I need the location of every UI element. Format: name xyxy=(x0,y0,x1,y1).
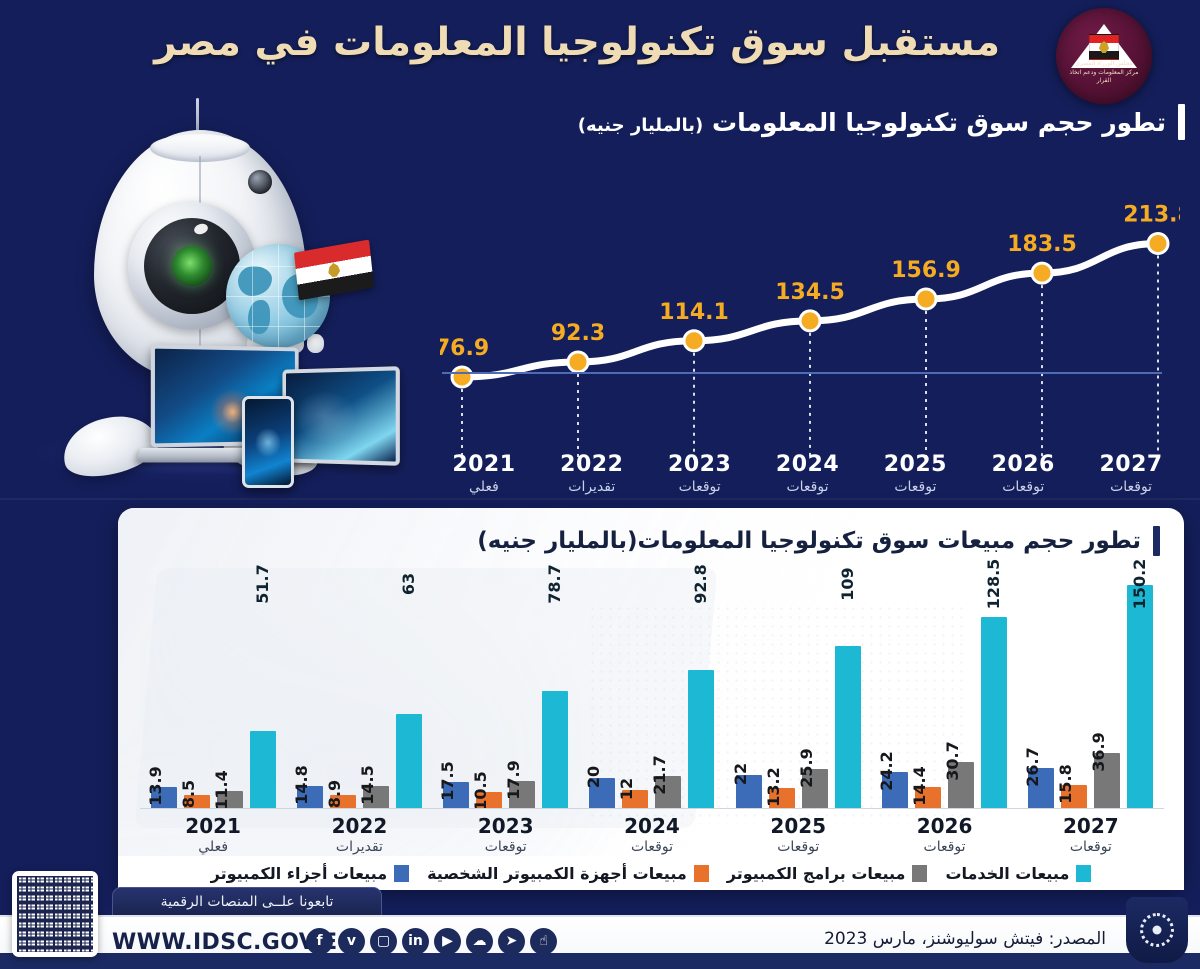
legend-item[interactable]: مبيعات أجزاء الكمبيوتر xyxy=(211,864,409,883)
bar-value-label: 12 xyxy=(619,778,635,800)
bar-value-label: 25.9 xyxy=(799,749,815,788)
logo-caption: مجلس الوزراء المصري مركز المعلومات ودعم … xyxy=(1056,60,1152,86)
robot-lens-pupil xyxy=(172,246,212,286)
bar-x-label-year: 2021 xyxy=(140,814,286,838)
gear-icon xyxy=(1140,913,1174,947)
bar-column[interactable]: 8.9 xyxy=(330,570,356,808)
chart-legend: مبيعات الخدماتمبيعات برامج الكمبيوترمبيع… xyxy=(118,856,1184,890)
line-data-point[interactable] xyxy=(452,367,472,387)
bar-chart-bars: 13.98.511.451.714.88.914.56317.510.517.9… xyxy=(140,570,1164,808)
social-media-links: fᴠ▢in▶☁➤☝ xyxy=(306,926,557,956)
bar-x-label-note: توقعات xyxy=(725,839,871,855)
soundcloud-icon[interactable]: ☁ xyxy=(466,928,493,955)
bar-rect[interactable]: 128.5 xyxy=(981,617,1007,808)
bar-rect[interactable]: 78.7 xyxy=(542,691,568,808)
line-x-label-year: 2026 xyxy=(969,452,1077,477)
line-data-label: 134.5 xyxy=(775,280,845,305)
bar-x-label-year: 2027 xyxy=(1018,814,1164,838)
bar-value-label: 14.8 xyxy=(294,765,310,804)
bar-rect[interactable]: 63 xyxy=(396,714,422,808)
line-x-label-note: توقعات xyxy=(861,479,969,495)
bar-x-label: 2025توقعات xyxy=(725,814,871,862)
bar-x-label-note: تقديرات xyxy=(286,839,432,855)
bar-group: 26.715.836.9150.2 xyxy=(1018,570,1164,808)
line-data-point[interactable] xyxy=(1032,263,1052,283)
qr-code-pattern xyxy=(17,876,93,952)
logo-circle: مجلس الوزراء المصري مركز المعلومات ودعم … xyxy=(1056,8,1152,104)
bar-chart-title-text: تطور حجم مبيعات سوق تكنولوجيا المعلومات xyxy=(638,528,1141,554)
line-x-label-note: توقعات xyxy=(1077,479,1185,495)
bar-x-label: 2026توقعات xyxy=(871,814,1017,862)
bar-group: 24.214.430.7128.5 xyxy=(871,570,1017,808)
bar-column[interactable]: 13.2 xyxy=(769,570,795,808)
bar-group: 14.88.914.563 xyxy=(286,570,432,808)
bar-value-label: 15.8 xyxy=(1058,764,1074,803)
bar-value-label: 78.7 xyxy=(547,564,563,603)
legend-swatch xyxy=(1076,865,1091,882)
line-x-label-note: توقعات xyxy=(969,479,1077,495)
bar-group: 201221.792.8 xyxy=(579,570,725,808)
bar-rect[interactable]: 51.7 xyxy=(250,731,276,808)
bar-x-label-note: توقعات xyxy=(871,839,1017,855)
bar-value-label: 17.5 xyxy=(440,761,456,800)
bar-x-label-year: 2025 xyxy=(725,814,871,838)
line-data-label: 114.1 xyxy=(659,300,729,325)
bar-column[interactable]: 12 xyxy=(622,570,648,808)
bar-column[interactable]: 13.9 xyxy=(151,570,177,808)
bar-x-label-year: 2024 xyxy=(579,814,725,838)
bar-column[interactable]: 14.8 xyxy=(297,570,323,808)
line-x-label: 2024توقعات xyxy=(754,452,862,504)
bar-x-label: 2027توقعات xyxy=(1018,814,1164,862)
bar-column[interactable]: 21.7 xyxy=(655,570,681,808)
bar-value-label: 11.4 xyxy=(214,770,230,809)
footer-emblem xyxy=(1126,897,1188,963)
bar-x-label: 2021فعلي xyxy=(140,814,286,862)
bar-x-label-note: فعلي xyxy=(140,839,286,855)
legend-label: مبيعات أجزاء الكمبيوتر xyxy=(211,864,387,883)
bar-column[interactable]: 8.5 xyxy=(184,570,210,808)
bar-chart-title: تطور حجم مبيعات سوق تكنولوجيا المعلومات(… xyxy=(477,528,1141,554)
line-x-label-year: 2023 xyxy=(646,452,754,477)
bar-column[interactable]: 25.9 xyxy=(802,570,828,808)
line-chart-axis xyxy=(442,372,1162,374)
robot-illustration xyxy=(10,96,420,496)
bar-value-label: 13.2 xyxy=(766,768,782,807)
line-data-point[interactable] xyxy=(916,289,936,309)
bar-chart-panel: تطور حجم مبيعات سوق تكنولوجيا المعلومات(… xyxy=(118,508,1184,888)
line-chart-svg: 76.992.3114.1134.5156.9183.5213.8 xyxy=(440,184,1180,464)
line-data-point[interactable] xyxy=(800,311,820,331)
bar-column[interactable]: 14.5 xyxy=(363,570,389,808)
bar-value-label: 30.7 xyxy=(945,742,961,781)
qr-code[interactable] xyxy=(12,871,98,957)
legend-label: مبيعات برامج الكمبيوتر xyxy=(727,864,906,883)
line-data-point[interactable] xyxy=(684,331,704,351)
bar-column[interactable]: 51.7 xyxy=(250,570,276,808)
line-data-point[interactable] xyxy=(1148,234,1168,254)
line-x-label-year: 2027 xyxy=(1077,452,1185,477)
legend-swatch xyxy=(694,865,709,882)
follow-us-text: تابعونا علــى المنصات الرقمية xyxy=(161,894,334,910)
footer-navy-strip xyxy=(0,953,1200,969)
bar-value-label: 36.9 xyxy=(1091,732,1107,771)
bar-rect[interactable]: 150.2 xyxy=(1127,585,1153,808)
line-chart-section: تطور حجم سوق تكنولوجيا المعلومات (بالملي… xyxy=(430,104,1185,504)
bar-column[interactable]: 26.7 xyxy=(1028,570,1054,808)
bar-value-label: 24.2 xyxy=(879,751,895,790)
bar-column[interactable]: 30.7 xyxy=(948,570,974,808)
legend-label: مبيعات أجهزة الكمبيوتر الشخصية xyxy=(427,864,687,883)
bar-column[interactable]: 22 xyxy=(736,570,762,808)
follow-us-pill: تابعونا علــى المنصات الرقمية xyxy=(112,887,382,917)
tablet-illustration xyxy=(282,366,399,466)
bar-x-label-note: توقعات xyxy=(579,839,725,855)
facebook-icon[interactable]: f xyxy=(306,928,333,955)
line-x-label-year: 2022 xyxy=(538,452,646,477)
bar-value-label: 20 xyxy=(586,766,602,788)
bar-column[interactable]: 20 xyxy=(589,570,615,808)
bar-chart-x-axis-labels: 2021فعلي2022تقديرات2023توقعات2024توقعات2… xyxy=(140,814,1164,862)
robot-sensor-icon xyxy=(248,170,272,194)
bar-value-label: 109 xyxy=(840,567,856,600)
line-x-label-year: 2021 xyxy=(430,452,538,477)
line-x-label-note: تقديرات xyxy=(538,479,646,495)
bar-value-label: 22 xyxy=(733,763,749,785)
bar-value-label: 92.8 xyxy=(693,564,709,603)
line-chart-plot: 76.992.3114.1134.5156.9183.5213.8 xyxy=(440,184,1180,464)
telegram-icon[interactable]: ➤ xyxy=(498,928,525,955)
bar-rect[interactable]: 92.8 xyxy=(688,670,714,808)
bar-x-label: 2023توقعات xyxy=(433,814,579,862)
bar-value-label: 51.7 xyxy=(255,564,271,603)
app-touch-icon[interactable]: ☝ xyxy=(530,928,557,955)
bar-chart-baseline xyxy=(140,808,1164,809)
line-data-label: 76.9 xyxy=(440,336,489,361)
idsc-logo: مجلس الوزراء المصري مركز المعلومات ودعم … xyxy=(1056,8,1152,104)
bar-x-label-year: 2026 xyxy=(871,814,1017,838)
line-x-label-note: توقعات xyxy=(646,479,754,495)
globe-gridline xyxy=(252,244,253,348)
youtube-icon[interactable]: ▶ xyxy=(434,928,461,955)
bar-value-label: 10.5 xyxy=(473,772,489,811)
bar-value-label: 128.5 xyxy=(986,559,1002,610)
globe-landmass-1 xyxy=(238,266,272,296)
line-x-label-note: توقعات xyxy=(754,479,862,495)
line-data-label: 92.3 xyxy=(551,321,605,346)
bar-value-label: 8.9 xyxy=(327,780,343,808)
line-data-point[interactable] xyxy=(568,352,588,372)
line-x-label: 2022تقديرات xyxy=(538,452,646,504)
bar-column[interactable]: 14.4 xyxy=(915,570,941,808)
bar-column[interactable]: 24.2 xyxy=(882,570,908,808)
footer: تابعونا علــى المنصات الرقمية WWW.IDSC.G… xyxy=(0,887,1200,969)
line-x-label: 2027توقعات xyxy=(1077,452,1185,504)
page-title: مستقبل سوق تكنولوجيا المعلومات في مصر xyxy=(120,18,1000,68)
bar-value-label: 14.4 xyxy=(912,766,928,805)
line-chart-unit: (بالمليار جنيه) xyxy=(578,115,703,136)
bar-chart-header: تطور حجم مبيعات سوق تكنولوجيا المعلومات(… xyxy=(477,526,1160,556)
bar-value-label: 14.5 xyxy=(360,766,376,805)
bar-column[interactable]: 63 xyxy=(396,570,422,808)
bar-chart-unit: (بالمليار جنيه) xyxy=(477,528,637,554)
linkedin-icon[interactable]: in xyxy=(402,928,429,955)
bar-value-label: 21.7 xyxy=(652,755,668,794)
twitter-icon[interactable]: ᴠ xyxy=(338,928,365,955)
header: مستقبل سوق تكنولوجيا المعلومات في مصر مج… xyxy=(0,0,1200,112)
bar-value-label: 150.2 xyxy=(1132,559,1148,610)
line-x-label: 2025توقعات xyxy=(861,452,969,504)
bar-column[interactable]: 150.2 xyxy=(1127,570,1153,808)
bar-value-label: 26.7 xyxy=(1025,748,1041,787)
line-data-label: 183.5 xyxy=(1007,232,1077,257)
bar-group: 17.510.517.978.7 xyxy=(433,570,579,808)
legend-item[interactable]: مبيعات برامج الكمبيوتر xyxy=(727,864,928,883)
bar-value-label: 63 xyxy=(401,573,417,595)
smartphone-illustration xyxy=(242,396,294,488)
legend-item[interactable]: مبيعات الخدمات xyxy=(945,864,1091,883)
accent-bar-dark xyxy=(1153,526,1160,556)
infographic-page: مستقبل سوق تكنولوجيا المعلومات في مصر مج… xyxy=(0,0,1200,969)
instagram-icon[interactable]: ▢ xyxy=(370,928,397,955)
source-note: المصدر: فيتش سوليوشنز، مارس 2023 xyxy=(824,929,1106,949)
bar-column[interactable]: 17.5 xyxy=(443,570,469,808)
globe-gridline xyxy=(278,244,279,348)
bar-column[interactable]: 36.9 xyxy=(1094,570,1120,808)
line-x-label: 2026توقعات xyxy=(969,452,1077,504)
line-x-label-year: 2024 xyxy=(754,452,862,477)
bar-column[interactable]: 15.8 xyxy=(1061,570,1087,808)
bar-group: 2213.225.9109 xyxy=(725,570,871,808)
bar-group: 13.98.511.451.7 xyxy=(140,570,286,808)
bar-column[interactable]: 17.9 xyxy=(509,570,535,808)
bar-rect[interactable]: 109 xyxy=(835,646,861,808)
line-data-label: 156.9 xyxy=(891,258,961,283)
bar-x-label: 2024توقعات xyxy=(579,814,725,862)
egypt-flag-illustration xyxy=(294,240,374,301)
bar-value-label: 13.9 xyxy=(148,767,164,806)
bar-value-label: 8.5 xyxy=(181,780,197,808)
bar-column[interactable]: 78.7 xyxy=(542,570,568,808)
bar-column[interactable]: 109 xyxy=(835,570,861,808)
legend-swatch xyxy=(912,865,927,882)
bar-x-label-note: توقعات xyxy=(1018,839,1164,855)
line-x-label: 2023توقعات xyxy=(646,452,754,504)
legend-item[interactable]: مبيعات أجهزة الكمبيوتر الشخصية xyxy=(427,864,709,883)
legend-label: مبيعات الخدمات xyxy=(945,864,1069,883)
line-data-label: 213.8 xyxy=(1123,203,1180,228)
bar-column[interactable]: 11.4 xyxy=(217,570,243,808)
bar-value-label: 17.9 xyxy=(506,761,522,800)
bar-column[interactable]: 92.8 xyxy=(688,570,714,808)
line-x-label-year: 2025 xyxy=(861,452,969,477)
bar-x-label-note: توقعات xyxy=(433,839,579,855)
line-x-label-note: فعلي xyxy=(430,479,538,495)
bar-column[interactable]: 128.5 xyxy=(981,570,1007,808)
line-x-label: 2021فعلي xyxy=(430,452,538,504)
bar-x-label: 2022تقديرات xyxy=(286,814,432,862)
legend-swatch xyxy=(394,865,409,882)
bar-x-label-year: 2022 xyxy=(286,814,432,838)
bar-column[interactable]: 10.5 xyxy=(476,570,502,808)
line-chart-x-axis-labels: 2021فعلي2022تقديرات2023توقعات2024توقعات2… xyxy=(430,452,1185,504)
bar-x-label-year: 2023 xyxy=(433,814,579,838)
